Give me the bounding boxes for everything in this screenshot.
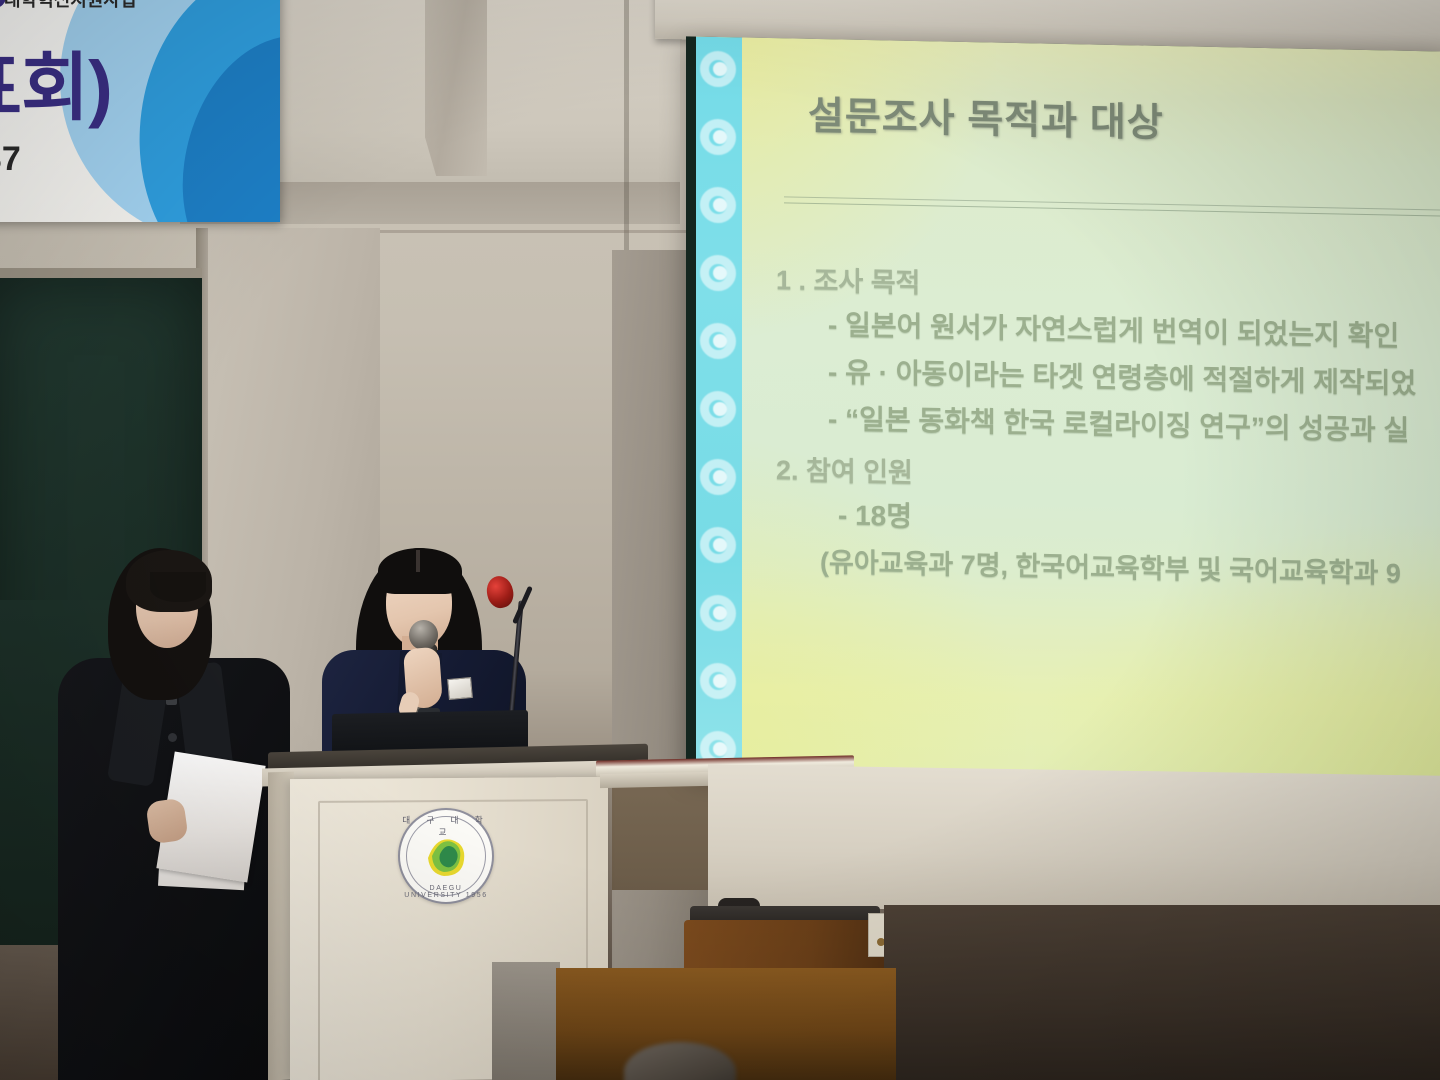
university-emblem: 대 구 대 학 교 DAEGU UNIVERSITY 1956 <box>398 808 494 904</box>
banner-title-fragment: 표회) <box>0 28 112 135</box>
strip-ring-motif <box>700 51 736 88</box>
ceiling-duct <box>425 0 487 176</box>
emblem-korean-text: 대 구 대 학 교 <box>400 814 492 838</box>
slide-body-text: 1 . 조사 목적- 일본어 원서가 자연스럽게 번역이 되었는지 확인- 유 … <box>776 258 1440 592</box>
emblem-english-text: DAEGU UNIVERSITY 1956 <box>400 885 492 899</box>
strip-ring-motif <box>700 323 736 360</box>
presenter-left-hand <box>145 798 188 845</box>
banner-number-fragment: 437 <box>0 140 21 179</box>
wall-seam-horizontal <box>352 230 692 233</box>
strip-ring-motif <box>700 119 736 156</box>
grey-lower-panel <box>492 962 560 1080</box>
presentation-room-scene: 설문조사 목적과 대상 1 . 조사 목적- 일본어 원서가 자연스럽게 번역이… <box>0 0 1440 1080</box>
slide-title: 설문조사 목적과 대상 <box>808 85 1164 148</box>
screen-border: 설문조사 목적과 대상 1 . 조사 목적- 일본어 원서가 자연스럽게 번역이… <box>686 36 1440 786</box>
presentation-slide: 설문조사 목적과 대상 1 . 조사 목적- 일본어 원서가 자연스럽게 번역이… <box>696 37 1440 787</box>
presenter-left-bangs <box>150 572 206 602</box>
projection-screen: 설문조사 목적과 대상 1 . 조사 목적- 일본어 원서가 자연스럽게 번역이… <box>686 36 1440 786</box>
strip-ring-motif <box>700 595 736 632</box>
slide-line-l3: - “일본 동화책 한국 로컬라이징 연구”의 성공과 실 <box>828 397 1440 450</box>
slide-decorative-strip <box>696 37 742 773</box>
banner-program-label: 대학혁신지원사업 <box>4 0 136 12</box>
dark-right-wall <box>884 905 1440 1080</box>
speaker-name-badge <box>447 677 473 700</box>
strip-ring-motif <box>700 187 736 224</box>
strip-ring-motif <box>700 459 736 496</box>
slide-line-l1: - 일본어 원서가 자연스럽게 번역이 되었는지 확인 <box>828 303 1440 356</box>
speaker-hair-part <box>416 550 420 572</box>
strip-ring-motif <box>700 391 736 428</box>
slide-line-l2: - 유 · 아동이라는 타겟 연령층에 적절하게 제작되었 <box>828 350 1440 403</box>
slide-line-l4: - 18명 <box>838 493 1440 546</box>
strip-ring-motif <box>700 527 736 564</box>
event-banner: University Innovation 대학혁신지원사업 표회) 437 <box>0 0 280 222</box>
strip-ring-motif <box>700 663 736 700</box>
wall-seam-vertical <box>624 0 629 250</box>
lower-beige-wall <box>708 764 1440 918</box>
speaker-hair-top <box>378 548 462 594</box>
strip-ring-motif <box>700 255 736 292</box>
presenter-left-coat-button-bottom <box>168 733 177 742</box>
